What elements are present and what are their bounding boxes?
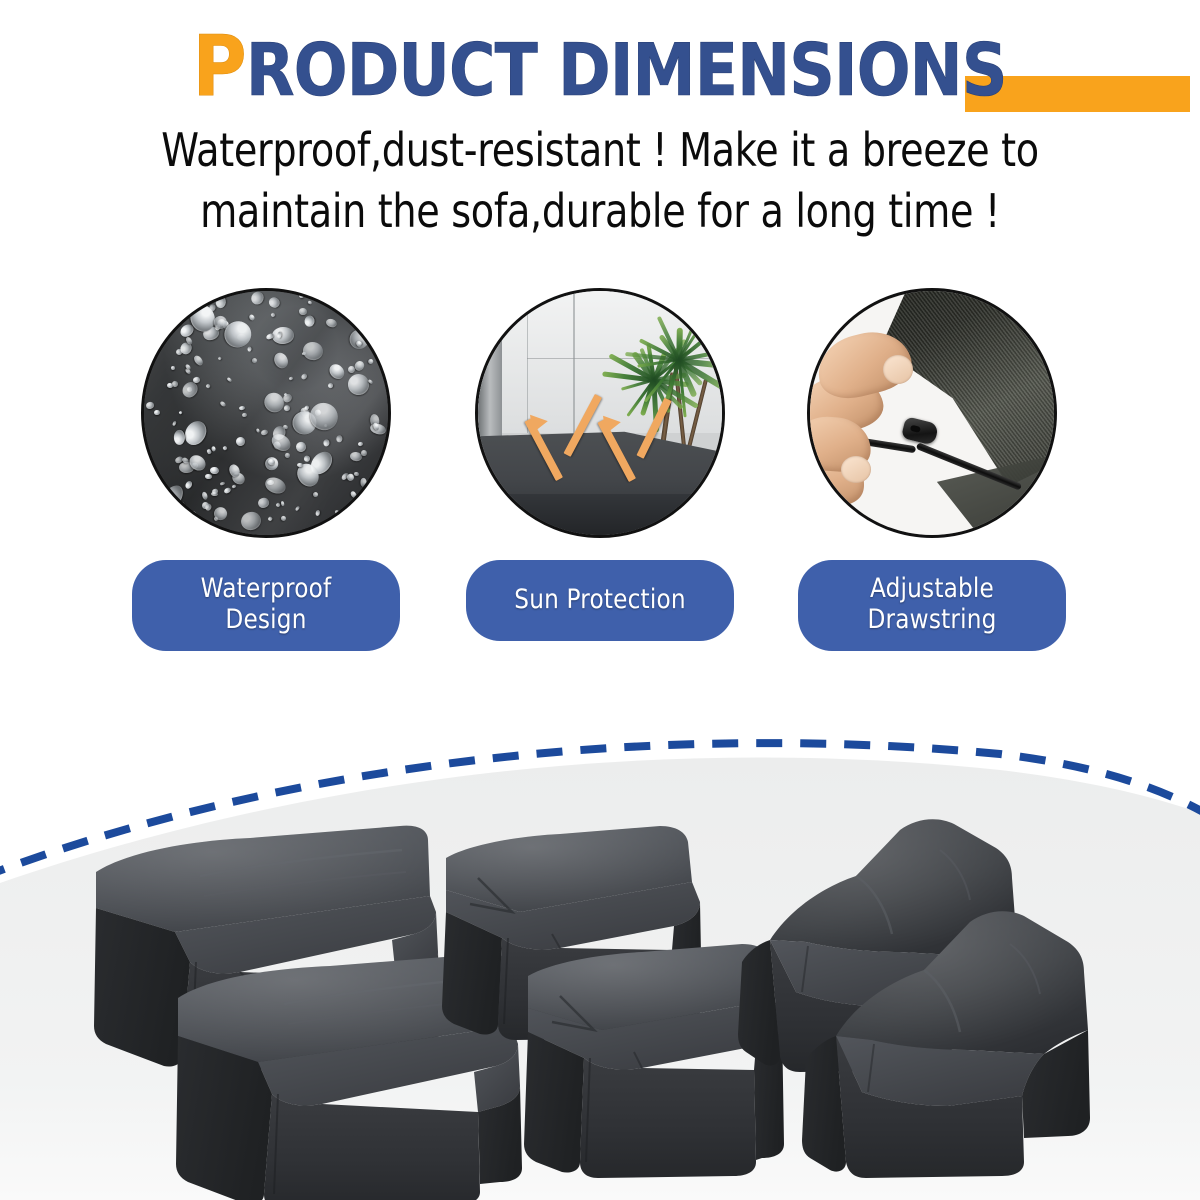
page-subtitle-line-2: maintain the sofa,durable for a long tim… <box>102 181 1098 242</box>
feature-list: Waterproof Design Sun Protection <box>0 288 1200 658</box>
sun-ray-arrowhead <box>595 410 621 435</box>
product-showcase-scene <box>0 700 1200 1200</box>
feature-label-adjustable-drawstring: Adjustable Drawstring <box>798 560 1066 651</box>
furniture-covers-group <box>0 700 1200 1200</box>
water-droplet <box>360 478 367 487</box>
water-droplets-on-fabric-icon <box>141 288 391 538</box>
page-title: PRODUCT DIMENSIONS <box>137 24 1062 108</box>
water-droplet <box>299 307 307 314</box>
water-droplet <box>170 365 174 369</box>
water-droplet <box>173 319 182 326</box>
product-dimensions-infographic: PRODUCT DIMENSIONS Waterproof,dust-resis… <box>0 0 1200 1200</box>
feature-label-sun-protection: Sun Protection <box>466 560 734 641</box>
feature-label-line-2: Design <box>159 604 372 635</box>
feature-item-waterproof-design: Waterproof Design <box>132 288 400 651</box>
page-subtitle: Waterproof,dust-resistant ! Make it a br… <box>0 120 1200 242</box>
feature-label-waterproof-design: Waterproof Design <box>132 560 400 651</box>
page-title-dropcap: P <box>193 17 246 115</box>
page-title-text: PRODUCT DIMENSIONS <box>193 24 1007 108</box>
sun-rays-reflecting-off-cover-icon <box>475 288 725 538</box>
page-header: PRODUCT DIMENSIONS <box>0 24 1200 108</box>
water-droplet <box>280 500 284 506</box>
feature-label-line-2: Drawstring <box>825 604 1038 635</box>
water-droplet <box>153 409 159 414</box>
water-droplet <box>366 482 391 502</box>
fingernail <box>883 355 913 384</box>
page-title-remainder: RODUCT DIMENSIONS <box>246 28 1007 112</box>
hand-pulling-drawstring-cord-lock-icon <box>807 288 1057 538</box>
water-droplet <box>211 492 218 497</box>
feature-label-line-1: Waterproof <box>159 573 372 604</box>
water-droplet <box>323 439 329 446</box>
page-subtitle-line-1: Waterproof,dust-resistant ! Make it a br… <box>102 120 1098 181</box>
sun-ray-arrowhead <box>522 409 548 434</box>
feature-item-sun-protection: Sun Protection <box>466 288 734 641</box>
feature-label-line-1: Adjustable <box>825 573 1038 604</box>
feature-item-adjustable-drawstring: Adjustable Drawstring <box>798 288 1066 651</box>
feature-label-line-1: Sun Protection <box>493 584 706 615</box>
fingernail <box>841 456 871 483</box>
